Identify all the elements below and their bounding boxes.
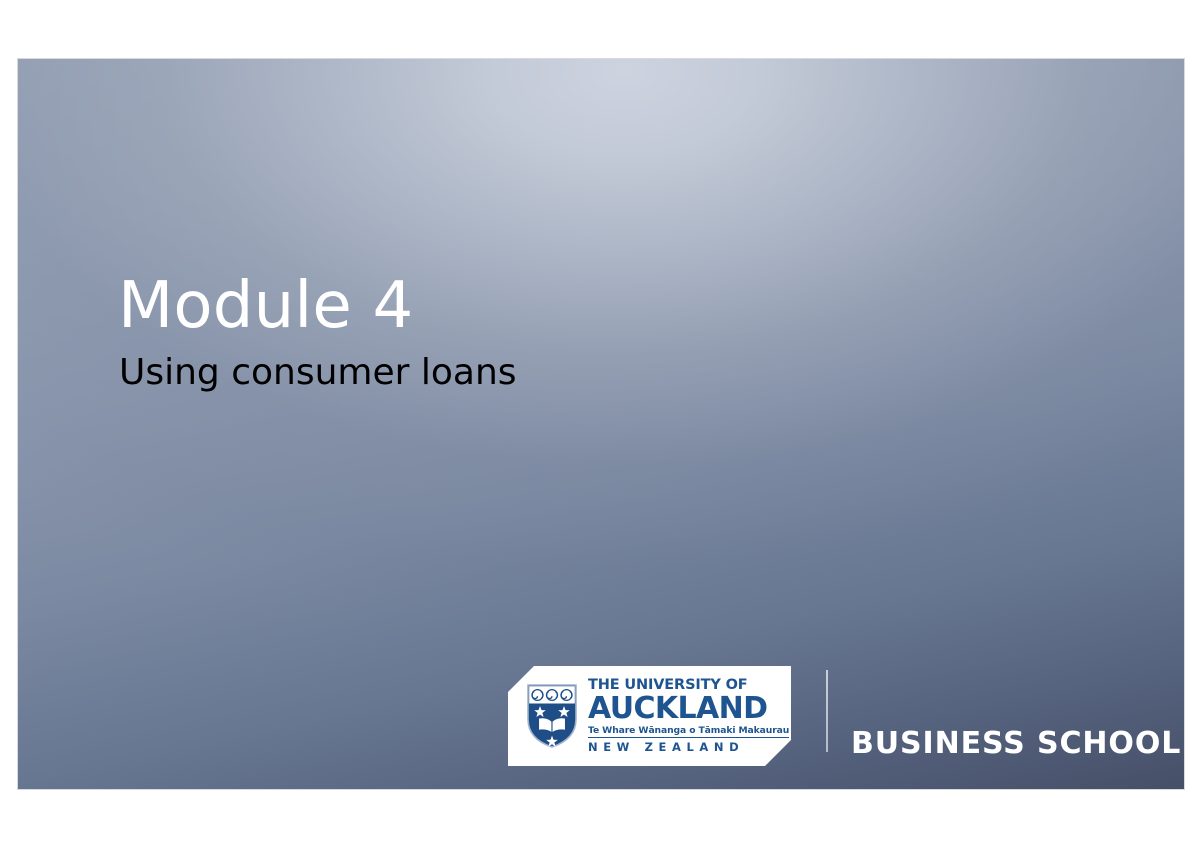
footer-branding: THE UNIVERSITY OF AUCKLAND Te Whare Wāna… <box>508 661 1178 771</box>
business-school-label: BUSINESS SCHOOL <box>851 726 1181 761</box>
page-subtitle: Using consumer loans <box>119 352 878 394</box>
brand-divider <box>826 670 828 752</box>
page-title: Module 4 <box>118 273 878 340</box>
logo-wordmark: THE UNIVERSITY OF AUCKLAND Te Whare Wāna… <box>588 678 789 753</box>
slide-canvas: Module 4 Using consumer loans <box>17 58 1185 790</box>
logo-line-new-zealand: NEW ZEALAND <box>588 742 789 754</box>
auckland-university-crest-icon <box>526 683 578 749</box>
university-logo: THE UNIVERSITY OF AUCKLAND Te Whare Wāna… <box>508 666 791 766</box>
logo-line-auckland: AUCKLAND <box>588 694 789 724</box>
logo-line-maori-name: Te Whare Wānanga o Tāmaki Makaurau <box>588 726 789 738</box>
title-block: Module 4 Using consumer loans <box>118 273 878 395</box>
